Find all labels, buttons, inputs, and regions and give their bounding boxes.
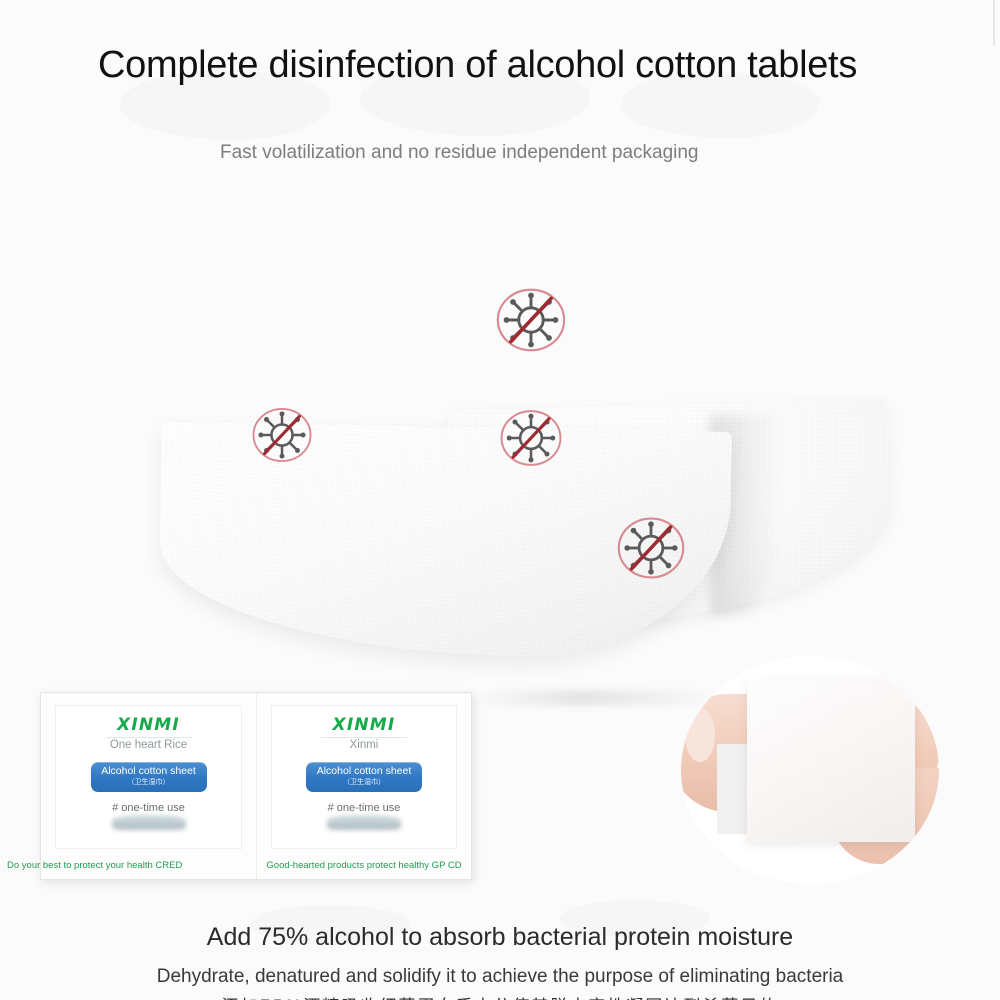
brand-subtitle: Xinmi (321, 737, 407, 751)
product-name-label: Alcohol cotton sheet （卫生湿巾） (91, 762, 207, 792)
fingernail-shape (685, 708, 715, 762)
packet-photo-ghost (327, 815, 401, 830)
product-name-cjk: （卫生湿巾） (94, 779, 204, 787)
no-virus-icon (249, 404, 315, 466)
background-shadow-band (470, 690, 720, 706)
cotton-pad-front (747, 678, 915, 842)
page-subtitle: Fast volatilization and no residue indep… (220, 141, 780, 165)
brand-logo: XINMI (272, 715, 456, 735)
footer-cjk-line: 添加75%酒精吸收细菌蛋白质水分使其脱水变性凝固达到杀菌目的 (0, 992, 1000, 1000)
product-packet-left[interactable]: XINMI One heart Rice Alcohol cotton shee… (41, 693, 256, 879)
usage-note: # one-time use (272, 802, 456, 814)
no-virus-icon (614, 513, 688, 583)
packet-photo-ghost (112, 815, 186, 830)
page-title: Complete disinfection of alcohol cotton … (98, 44, 888, 87)
product-name-cjk: （卫生湿巾） (309, 779, 419, 787)
finger-holding-cotton-pad-photo (681, 656, 939, 884)
product-name-text: Alcohol cotton sheet (101, 765, 196, 777)
product-name-label: Alcohol cotton sheet （卫生湿巾） (306, 762, 422, 792)
packet-face: XINMI One heart Rice Alcohol cotton shee… (55, 705, 242, 849)
product-page: Complete disinfection of alcohol cotton … (0, 0, 1000, 1000)
product-name-text: Alcohol cotton sheet (317, 765, 412, 777)
packet-tagline: Good-hearted products protect healthy GP… (257, 860, 471, 871)
no-virus-icon (495, 284, 567, 356)
right-edge-rule (993, 0, 995, 46)
brand-subtitle: One heart Rice (106, 737, 192, 751)
packet-tagline: Do your best to protect your health CRED (7, 860, 267, 871)
footer-subline: Dehydrate, denatured and solidify it to … (0, 966, 1000, 988)
brand-logo: XINMI (56, 715, 241, 735)
cotton-texture (747, 678, 915, 842)
product-packet-right[interactable]: XINMI Xinmi Alcohol cotton sheet （卫生湿巾） … (256, 693, 471, 879)
packet-face: XINMI Xinmi Alcohol cotton sheet （卫生湿巾） … (271, 705, 457, 849)
product-packets: XINMI One heart Rice Alcohol cotton shee… (40, 692, 472, 880)
footer-headline: Add 75% alcohol to absorb bacterial prot… (0, 923, 1000, 952)
usage-note: # one-time use (56, 802, 241, 814)
no-virus-icon (496, 406, 566, 470)
